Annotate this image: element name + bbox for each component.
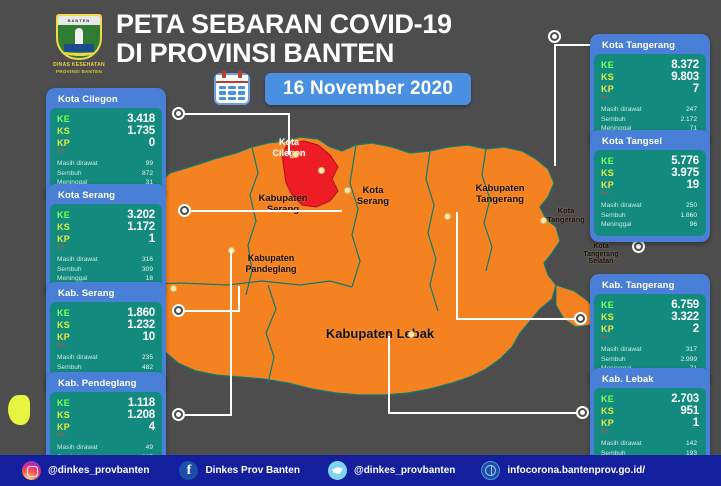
sub-label-sembuh: Sembuh	[601, 211, 626, 221]
stat-label-ke: KE	[57, 114, 70, 124]
pin-kota-tangsel[interactable]	[632, 240, 645, 253]
stat-value-ke: 6.759	[671, 299, 699, 311]
stat-ks: KS 1.735	[57, 125, 155, 137]
sub-label-dirawat: Masih dirawat	[601, 345, 642, 355]
connector-kab-tangerang	[458, 318, 580, 320]
stat-value-ke: 3.418	[127, 113, 155, 125]
pin-kab-pandeglang[interactable]	[172, 408, 185, 421]
card-title: Kota Cilegon	[50, 92, 162, 108]
footer-instagram[interactable]: @dinkes_provbanten	[22, 461, 149, 480]
map-label-kota-tangsel-l3: Selatan	[578, 258, 624, 266]
stat-label-ks: KS	[57, 320, 70, 330]
connector-kab-pandeglang-v	[230, 250, 232, 416]
map-label-kab-tangerang-l1: Kabupaten	[462, 183, 538, 194]
sub-label-dirawat: Masih dirawat	[57, 159, 98, 169]
connector-kab-serang-v	[238, 286, 240, 312]
instagram-icon[interactable]	[22, 461, 41, 480]
stat-label-kp: KP	[601, 84, 614, 94]
card-title: Kab. Pendeglang	[50, 376, 162, 392]
sub-value-sembuh: 2.999	[680, 355, 697, 365]
map-label-kota-tangsel-l1: Kota	[578, 243, 624, 251]
sub-value-dirawat: 250	[686, 201, 697, 211]
map-dot-kab-tangerang	[444, 213, 451, 220]
stat-value-ks: 9.803	[671, 71, 699, 83]
pin-kota-cilegon[interactable]	[172, 107, 185, 120]
sub-dirawat: Masih dirawat 49	[57, 443, 153, 453]
sub-label-dirawat: Masih dirawat	[57, 443, 98, 453]
sub-value-dirawat: 317	[686, 345, 697, 355]
stat-ks: KS 951	[601, 405, 699, 417]
facebook-icon[interactable]: f	[179, 461, 198, 480]
map-dot-kota-tangsel	[540, 217, 547, 224]
dinkes-banten-logo: BANTEN DINAS KESEHATAN PROVINSI BANTEN	[48, 12, 110, 78]
stat-label-kp: KP	[57, 332, 70, 342]
map-label-kab-pandeglang-l1: Kabupaten	[232, 253, 310, 264]
sub-sembuh: Sembuh 2.999	[601, 355, 697, 365]
page-title: PETA SEBARAN COVID-19 DI PROVINSI BANTEN	[116, 10, 452, 68]
connector-kota-tangerang-h	[554, 44, 592, 46]
stat-ks: KS 3.975	[601, 167, 699, 179]
footer-twitter[interactable]: @dinkes_provbanten	[328, 461, 455, 480]
sub-value-dirawat: 142	[686, 439, 697, 449]
sub-value-dirawat: 99	[146, 159, 153, 169]
stat-kp: KP 7	[601, 83, 699, 95]
stat-value-ks: 1.172	[127, 221, 155, 233]
stat-value-kp: 4	[149, 421, 155, 433]
stat-label-ks: KS	[601, 312, 614, 322]
stat-label-ks: KS	[57, 222, 70, 232]
connector-kota-cilegon	[178, 113, 290, 115]
sub-label-dirawat: Masih dirawat	[57, 255, 98, 265]
connector-kab-lebak-v	[388, 336, 390, 414]
stat-kp: KP 1	[57, 233, 155, 245]
stat-kp: KP 4	[57, 421, 155, 433]
footer-website-url: infocorona.bantenprov.go.id/	[507, 465, 645, 476]
stat-label-ks: KS	[601, 168, 614, 178]
card-title: Kota Tangsel	[594, 134, 706, 150]
sub-label-meninggal: Meninggal	[601, 220, 631, 230]
connector-kota-tangerang-v	[554, 44, 556, 166]
stat-kp: KP 1	[601, 417, 699, 429]
sub-value-sembuh: 309	[142, 265, 153, 275]
stat-value-ke: 1.118	[128, 397, 155, 409]
stat-ke: KE 1.860	[57, 307, 155, 319]
stat-value-ke: 3.202	[127, 209, 155, 221]
map-label-kab-serang-l1: Kabupaten	[248, 193, 318, 204]
pin-kota-tangerang[interactable]	[548, 30, 561, 43]
card-kota-cilegon[interactable]: Kota Cilegon KE 3.418 KS 1.735 KP 0 KK M…	[46, 88, 166, 200]
stat-value-kp: 7	[693, 83, 699, 95]
stat-value-ks: 1.232	[127, 319, 155, 331]
sub-value-sembuh: 2.172	[680, 115, 697, 125]
stat-kp: KP 19	[601, 179, 699, 191]
stat-value-ks: 1.208	[127, 409, 155, 421]
map-label-kota-serang-l2: Serang	[348, 196, 398, 207]
stat-value-ks: 951	[680, 405, 699, 417]
calendar-peg-left-icon	[222, 71, 226, 78]
stat-label-hidden: KK	[601, 429, 699, 435]
stat-value-kp: 1	[149, 233, 155, 245]
stat-label-kp: KP	[57, 422, 70, 432]
sub-value-meninggal: 96	[690, 220, 697, 230]
map-label-kota-tangsel-l2: Tangerang	[578, 251, 624, 259]
stat-label-hidden: KK	[57, 245, 155, 251]
stat-label-kp: KP	[57, 138, 70, 148]
stat-label-kp: KP	[601, 418, 614, 428]
stat-label-ks: KS	[601, 72, 614, 82]
map-dot-kota-tangerang	[318, 167, 325, 174]
stat-label-kp: KP	[57, 234, 70, 244]
stat-ke: KE 1.118	[57, 397, 155, 409]
stat-ke: KE 3.418	[57, 113, 155, 125]
card-body: KE 5.776 KS 3.975 KP 19 KK Masih dirawat…	[594, 150, 706, 236]
footer-website[interactable]: infocorona.bantenprov.go.id/	[481, 461, 645, 480]
infographic-root: BANTEN DINAS KESEHATAN PROVINSI BANTEN P…	[0, 0, 721, 486]
emblem-arc-icon	[59, 44, 101, 56]
card-title: Kab. Lebak	[594, 372, 706, 388]
stat-label-ks: KS	[601, 406, 614, 416]
stat-label-hidden: KK	[601, 335, 699, 341]
footer-facebook-handle: Dinkes Prov Banten	[205, 465, 299, 476]
map-dot-kab-lebak	[408, 331, 415, 338]
sub-dirawat: Masih dirawat 316	[57, 255, 153, 265]
connector-kota-cilegon-v	[288, 113, 290, 155]
stat-value-ks: 3.975	[671, 167, 699, 179]
globe-icon[interactable]	[481, 461, 500, 480]
calendar-peg-right-icon	[238, 71, 242, 78]
logo-text-line1: DINAS KESEHATAN	[48, 62, 110, 68]
sub-value-dirawat: 49	[146, 443, 153, 453]
stat-label-ke: KE	[57, 210, 70, 220]
map-label-kab-lebak-l1: Kabupaten Lebak	[312, 327, 448, 341]
card-subvalues: Masih dirawat 316 Sembuh 309 Meninggal 1…	[57, 255, 155, 284]
sub-label-sembuh: Sembuh	[601, 115, 626, 125]
stat-label-ke: KE	[601, 60, 614, 70]
stat-kp: KP 10	[57, 331, 155, 343]
stat-ks: KS 1.172	[57, 221, 155, 233]
sub-label-sembuh: Sembuh	[57, 265, 82, 275]
stat-label-ke: KE	[57, 398, 70, 408]
sub-label-dirawat: Masih dirawat	[601, 201, 642, 211]
stat-ke: KE 5.776	[601, 155, 699, 167]
sub-dirawat: Masih dirawat 250	[601, 201, 697, 211]
map-label-kab-pandeglang-l2: Pandeglang	[232, 264, 310, 275]
sub-value-dirawat: 247	[686, 105, 697, 115]
stat-ks: KS 9.803	[601, 71, 699, 83]
card-title: Kab. Tangerang	[594, 278, 706, 294]
stat-label-ke: KE	[601, 156, 614, 166]
page-title-line1: PETA SEBARAN COVID-19	[116, 10, 452, 39]
stat-value-kp: 10	[143, 331, 155, 343]
map-island-yellow	[8, 395, 30, 425]
stat-label-kp: KP	[601, 324, 614, 334]
stat-label-ks: KS	[57, 126, 70, 136]
sub-dirawat: Masih dirawat 317	[601, 345, 697, 355]
sub-dirawat: Masih dirawat 99	[57, 159, 153, 169]
stat-value-ke: 8.372	[671, 59, 699, 71]
sub-value-dirawat: 235	[142, 353, 153, 363]
connector-kab-pandeglang	[178, 414, 232, 416]
sub-label-dirawat: Masih dirawat	[601, 105, 642, 115]
card-body: KE 3.202 KS 1.172 KP 1 KK Masih dirawat …	[50, 204, 162, 290]
map-label-kabupaten-pandeglang: Kabupaten Pandeglang	[232, 253, 310, 275]
stat-value-kp: 1	[693, 417, 699, 429]
sub-label-sembuh: Sembuh	[601, 355, 626, 365]
logo-text-line2: PROVINSI BANTEN	[48, 69, 110, 74]
pin-kab-lebak[interactable]	[576, 406, 589, 419]
sub-value-sembuh: 482	[142, 363, 153, 373]
stat-label-hidden: KK	[57, 433, 155, 439]
stat-ks: KS 1.208	[57, 409, 155, 421]
sub-label-sembuh: Sembuh	[57, 169, 82, 179]
twitter-icon[interactable]	[328, 461, 347, 480]
footer-instagram-handle: @dinkes_provbanten	[48, 465, 149, 476]
stat-kp: KP 2	[601, 323, 699, 335]
footer-facebook[interactable]: f Dinkes Prov Banten	[179, 461, 299, 480]
calendar-header-icon	[216, 75, 248, 83]
sub-label-dirawat: Masih dirawat	[601, 439, 642, 449]
stat-ke: KE 6.759	[601, 299, 699, 311]
card-body: KE 6.759 KS 3.322 KP 2 KK Masih dirawat …	[594, 294, 706, 380]
connector-kab-lebak	[390, 412, 582, 414]
card-title: Kota Tangerang	[594, 38, 706, 54]
sub-sembuh: Sembuh 1.860	[601, 211, 697, 221]
footer-twitter-handle: @dinkes_provbanten	[354, 465, 455, 476]
stat-value-kp: 0	[149, 137, 155, 149]
pin-kab-tangerang[interactable]	[574, 312, 587, 325]
stat-value-ks: 1.735	[127, 125, 155, 137]
stat-label-kp: KP	[601, 180, 614, 190]
sub-value-dirawat: 316	[142, 255, 153, 265]
emblem-band-text: BANTEN	[58, 16, 100, 25]
sub-dirawat: Masih dirawat 142	[601, 439, 697, 449]
sub-meninggal: Meninggal 96	[601, 220, 697, 230]
map-label-kab-tangerang-l2: Tangerang	[462, 194, 538, 205]
card-kota-tangerang[interactable]: Kota Tangerang KE 8.372 KS 9.803 KP 7 KK…	[590, 34, 710, 146]
card-body: KE 8.372 KS 9.803 KP 7 KK Masih dirawat …	[594, 54, 706, 140]
stat-kp: KP 0	[57, 137, 155, 149]
stat-label-ke: KE	[57, 308, 70, 318]
sub-sembuh: Sembuh 309	[57, 265, 153, 275]
page-title-line2: DI PROVINSI BANTEN	[116, 39, 452, 68]
card-subvalues: Masih dirawat 250 Sembuh 1.860 Meninggal…	[601, 201, 699, 230]
stat-label-hidden: KK	[601, 95, 699, 101]
card-kota-serang[interactable]: Kota Serang KE 3.202 KS 1.172 KP 1 KK Ma…	[46, 184, 166, 296]
pin-kota-serang[interactable]	[178, 204, 191, 217]
map-label-kota-serang: Kota Serang	[348, 185, 398, 207]
stat-value-ks: 3.322	[671, 311, 699, 323]
stat-ke: KE 3.202	[57, 209, 155, 221]
stat-ks: KS 1.232	[57, 319, 155, 331]
pin-kab-serang[interactable]	[172, 304, 185, 317]
stat-label-ke: KE	[601, 300, 614, 310]
stat-label-ks: KS	[57, 410, 70, 420]
map-landmass	[126, 137, 560, 395]
map-label-kota-tangerang-selatan: Kota Tangerang Selatan	[578, 243, 624, 266]
map-label-kabupaten-lebak: Kabupaten Lebak	[312, 327, 448, 341]
sub-dirawat: Masih dirawat 235	[57, 353, 153, 363]
sub-sembuh: Sembuh 482	[57, 363, 153, 373]
stat-ke: KE 8.372	[601, 59, 699, 71]
map-dot-kota-serang	[344, 187, 351, 194]
stat-value-kp: 19	[687, 179, 699, 191]
sub-dirawat: Masih dirawat 247	[601, 105, 697, 115]
stat-value-ke: 1.860	[127, 307, 155, 319]
sub-sembuh: Sembuh 2.172	[601, 115, 697, 125]
stat-ke: KE 2.703	[601, 393, 699, 405]
connector-kab-tangerang-v	[456, 212, 458, 320]
card-body: KE 3.418 KS 1.735 KP 0 KK Masih dirawat …	[50, 108, 162, 194]
sub-value-sembuh: 872	[142, 169, 153, 179]
connector-kota-serang	[184, 210, 342, 212]
map-label-kota-serang-l1: Kota	[348, 185, 398, 196]
stat-value-kp: 2	[693, 323, 699, 335]
sub-label-dirawat: Masih dirawat	[57, 353, 98, 363]
stat-value-ke: 5.776	[671, 155, 699, 167]
sub-label-sembuh: Sembuh	[57, 363, 82, 373]
stat-ks: KS 3.322	[601, 311, 699, 323]
map-label-kabupaten-tangerang: Kabupaten Tangerang	[462, 183, 538, 205]
sub-sembuh: Sembuh 872	[57, 169, 153, 179]
card-title: Kota Serang	[50, 188, 162, 204]
social-footer: @dinkes_provbanten f Dinkes Prov Banten …	[0, 455, 721, 486]
card-title: Kab. Serang	[50, 286, 162, 302]
stat-label-ke: KE	[601, 394, 614, 404]
map-dot-kab-serang	[170, 285, 177, 292]
stat-value-ke: 2.703	[671, 393, 699, 405]
stat-label-hidden: KK	[57, 149, 155, 155]
stat-label-hidden: KK	[57, 343, 155, 349]
sub-value-sembuh: 1.860	[680, 211, 697, 221]
banten-emblem-icon: BANTEN	[56, 14, 102, 60]
map-dot-kota-cilegon	[292, 151, 299, 158]
card-kota-tangsel[interactable]: Kota Tangsel KE 5.776 KS 3.975 KP 19 KK …	[590, 130, 710, 242]
stat-label-hidden: KK	[601, 191, 699, 197]
